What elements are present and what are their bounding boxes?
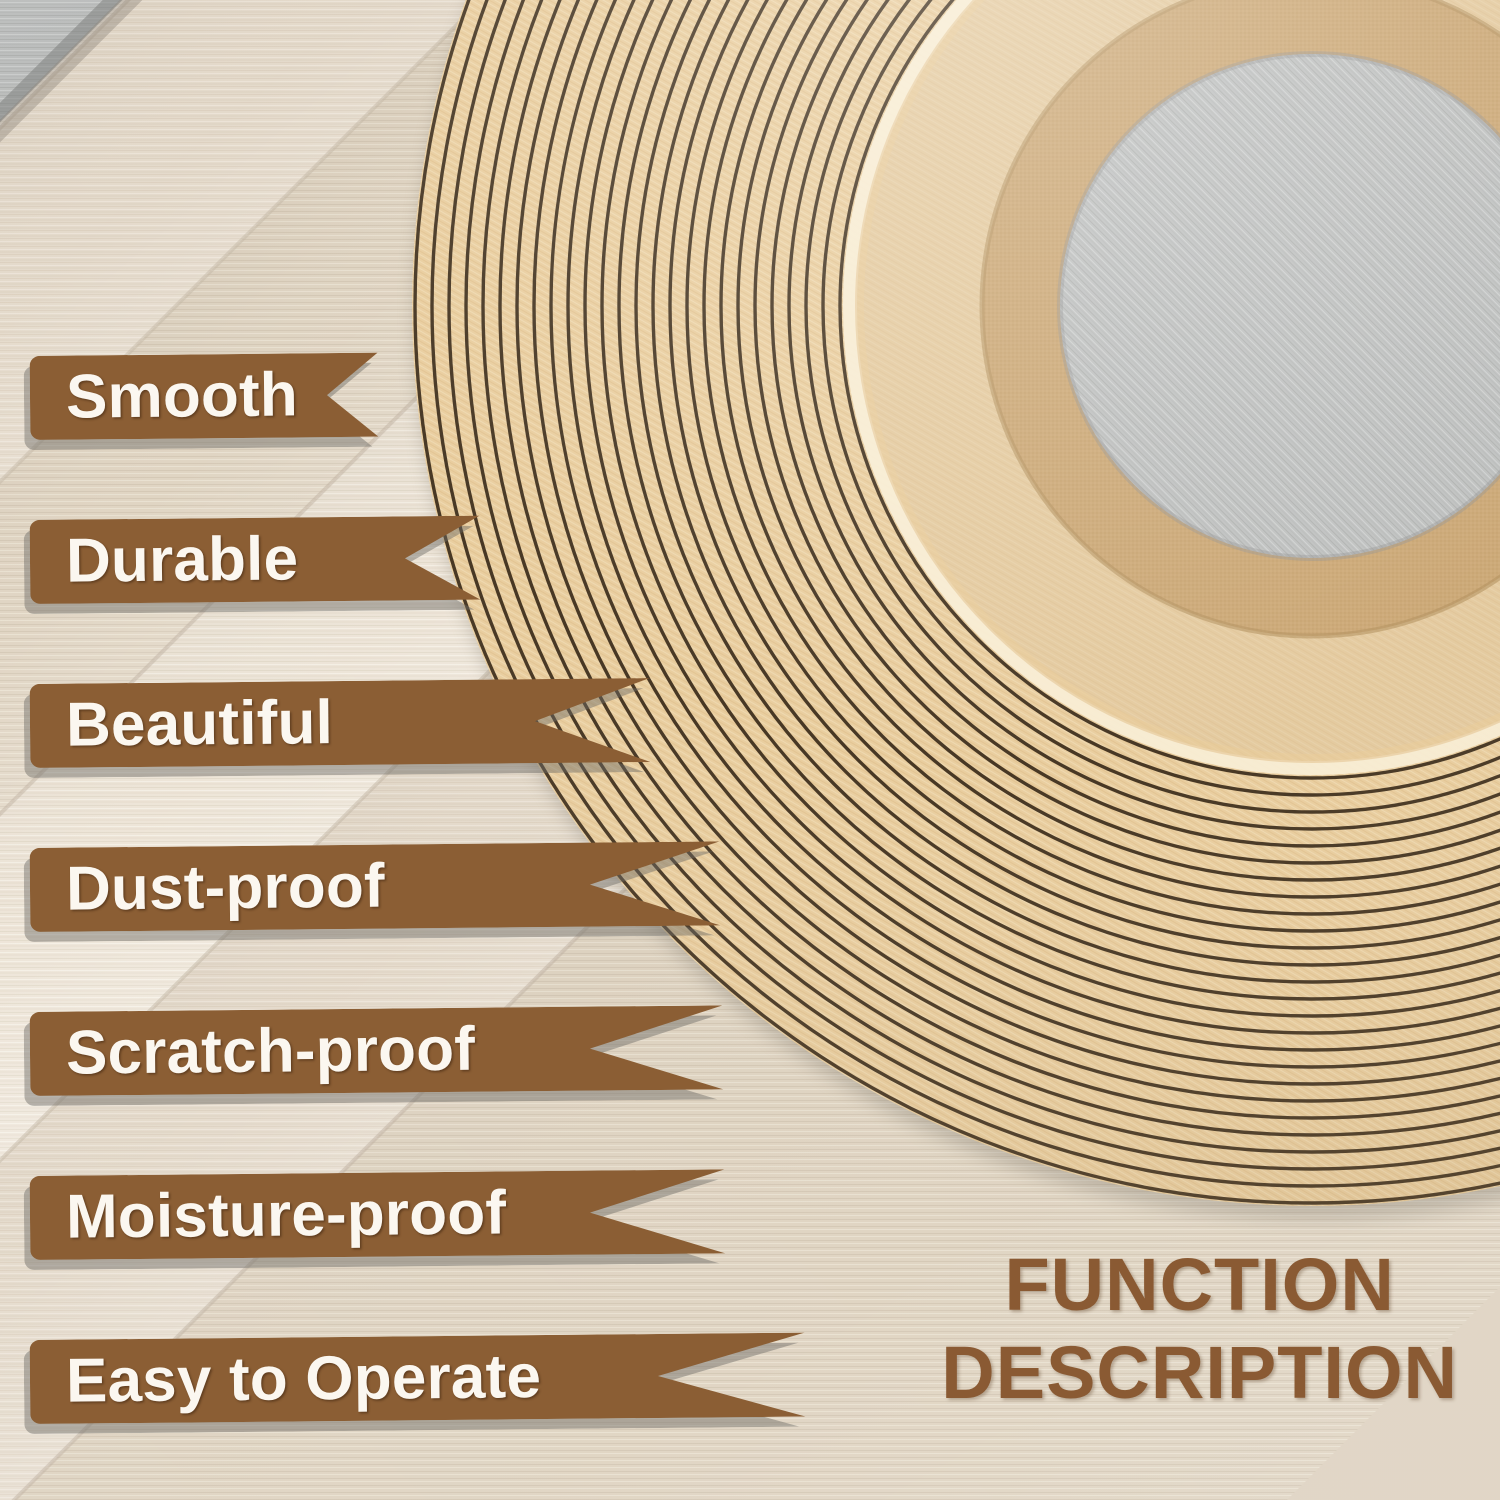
feature-row: Moisture-proof [0, 1158, 900, 1322]
feature-banner-moisture-proof[interactable]: Moisture-proof [30, 1169, 726, 1260]
function-description-heading: FUNCTION DESCRIPTION [941, 1241, 1458, 1416]
product-feature-graphic: Smooth Durable Bea [0, 0, 1500, 1500]
function-description-line-2: DESCRIPTION [941, 1329, 1458, 1416]
feature-label: Dust-proof [30, 856, 385, 921]
feature-label: Durable [30, 528, 299, 593]
feature-banner-dust-proof[interactable]: Dust-proof [30, 841, 721, 932]
feature-banner-beautiful[interactable]: Beautiful [30, 678, 651, 768]
feature-row: Dust-proof [0, 830, 900, 994]
feature-banner-list: Smooth Durable Bea [0, 338, 900, 1486]
feature-row: Easy to Operate [0, 1322, 900, 1486]
feature-label: Easy to Operate [30, 1346, 542, 1413]
feature-banner-easy-to-operate[interactable]: Easy to Operate [30, 1333, 806, 1424]
feature-row: Scratch-proof [0, 994, 900, 1158]
feature-row: Smooth [0, 338, 900, 502]
feature-row: Durable [0, 502, 900, 666]
feature-banner-scratch-proof[interactable]: Scratch-proof [30, 1005, 724, 1096]
function-description-line-1: FUNCTION [941, 1241, 1458, 1328]
feature-banner-durable[interactable]: Durable [30, 516, 481, 604]
feature-label: Beautiful [30, 692, 334, 757]
feature-label: Moisture-proof [30, 1182, 507, 1249]
feature-label: Smooth [30, 364, 299, 429]
feature-row: Beautiful [0, 666, 900, 830]
feature-banner-smooth[interactable]: Smooth [30, 353, 379, 440]
feature-label: Scratch-proof [30, 1019, 476, 1085]
